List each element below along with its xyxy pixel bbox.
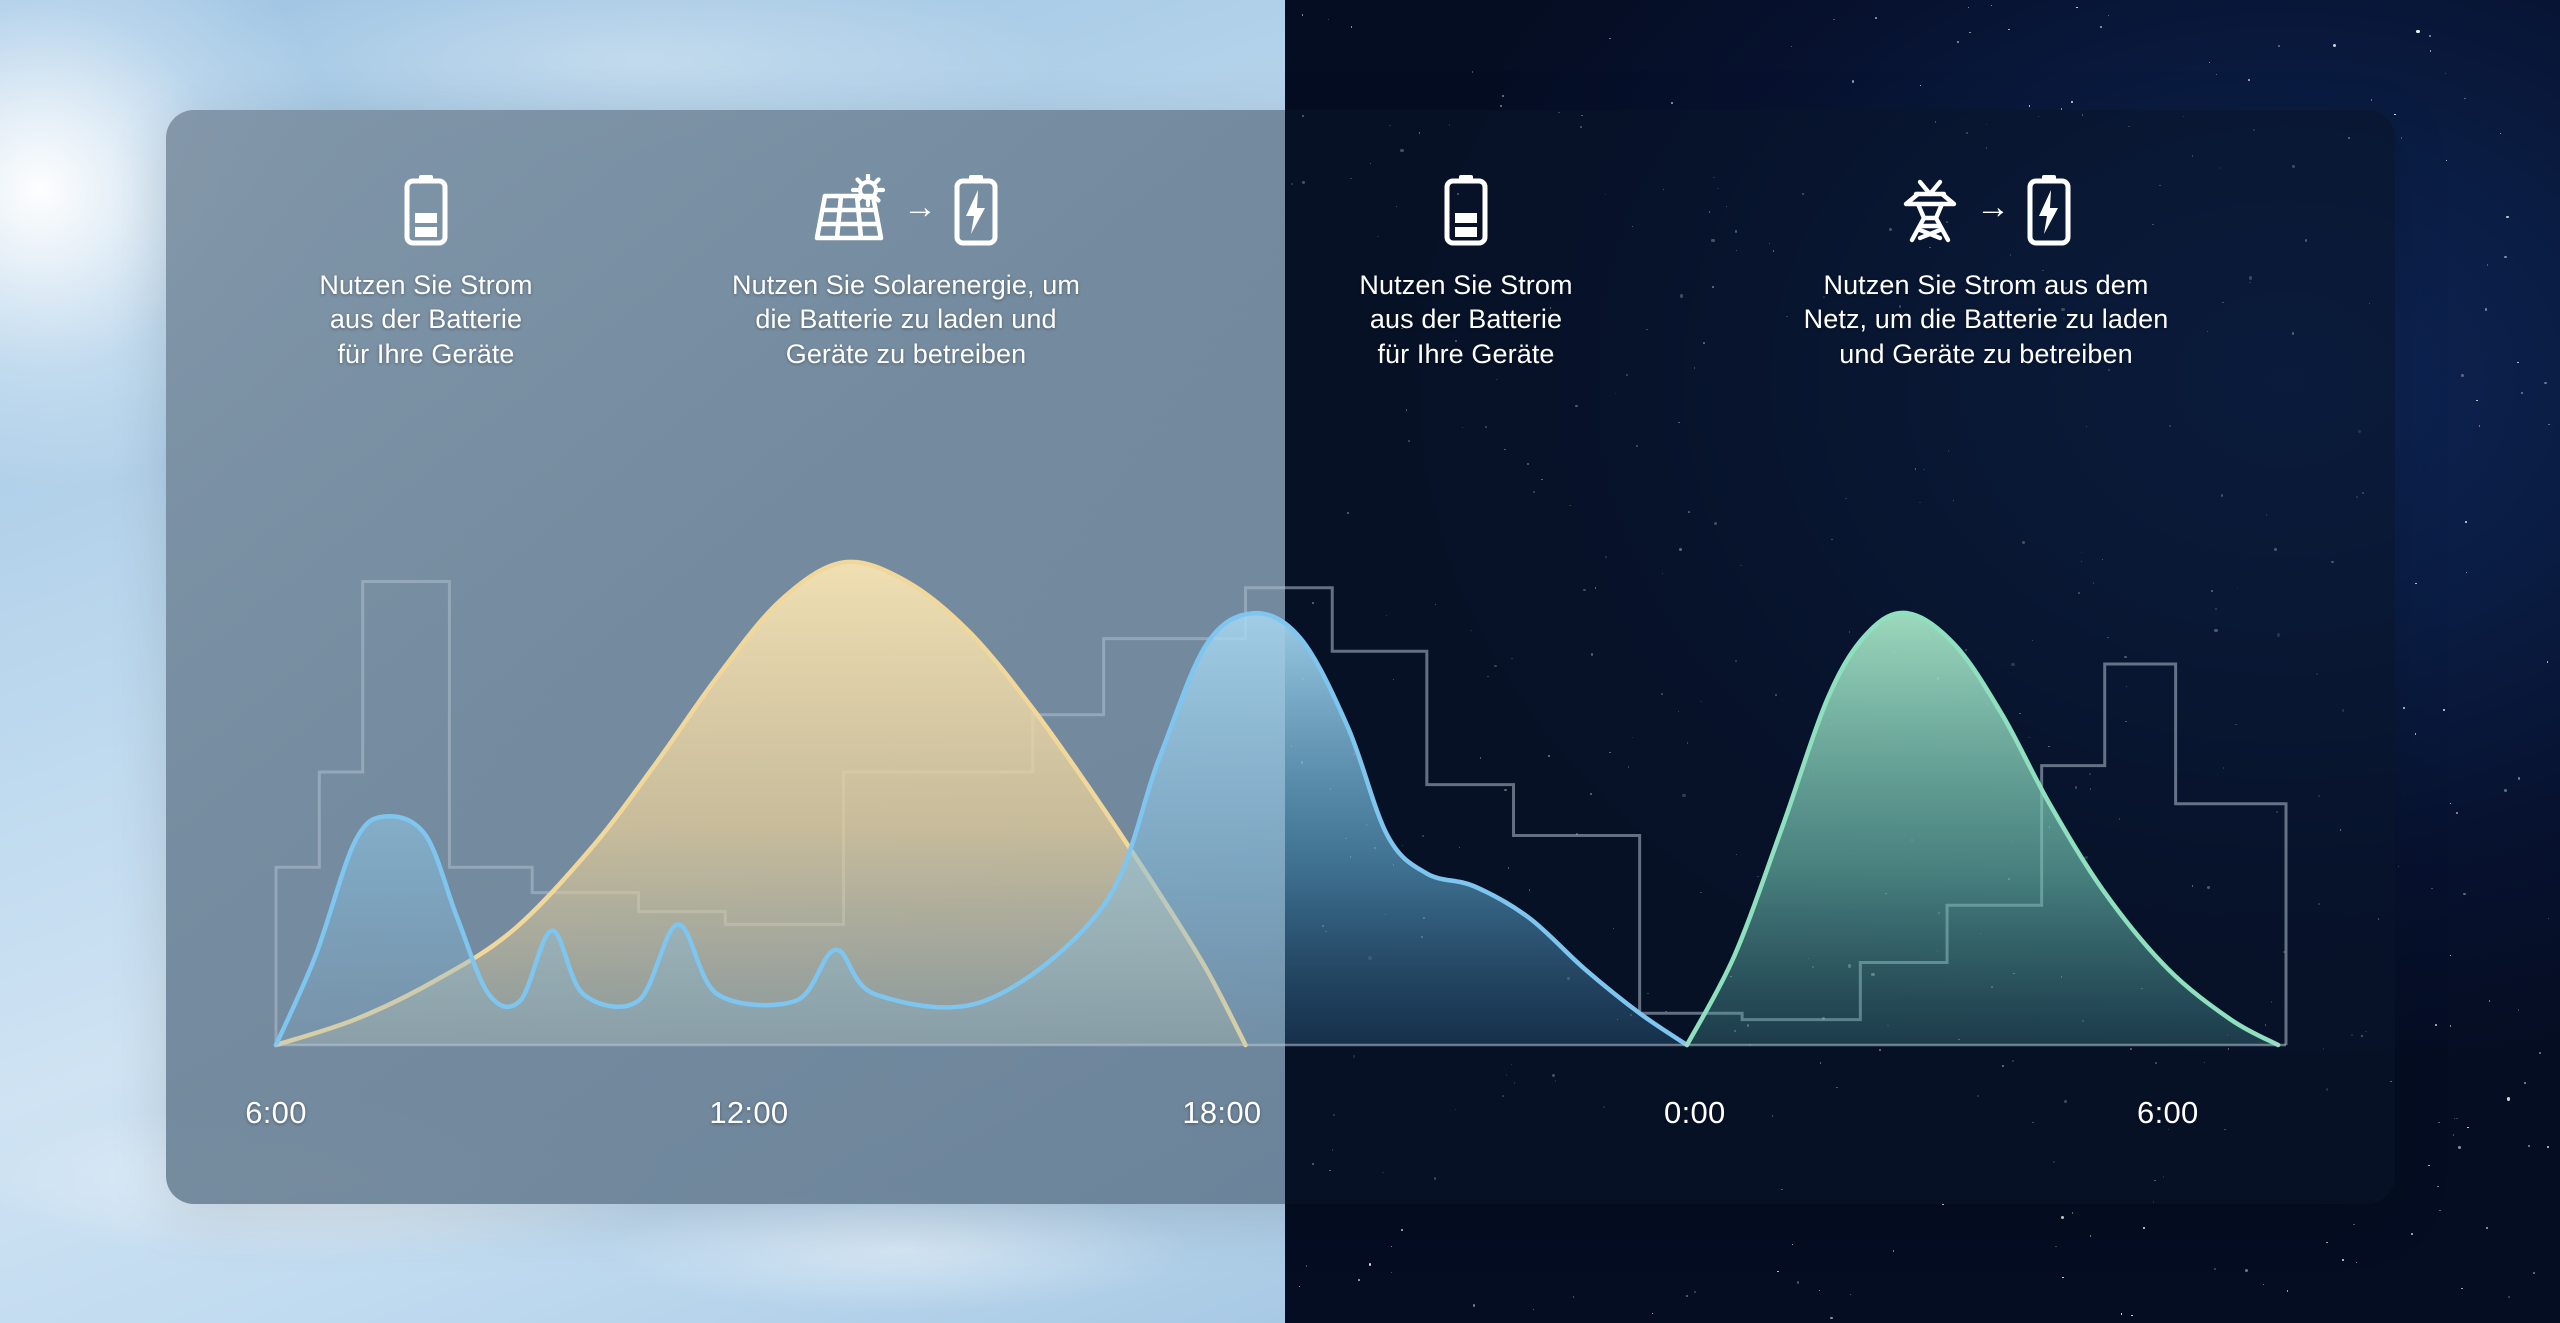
battery-charging-icon <box>2024 172 2074 246</box>
battery-charging-icon <box>951 172 1001 246</box>
x-tick-label: 12:00 <box>709 1095 788 1131</box>
legend-item-day-solar[interactable]: → Nutzen Sie Solarenergie, um die Batter… <box>636 172 1176 371</box>
legend-caption: Nutzen Sie Strom aus dem Netz, um die Ba… <box>1686 268 2286 371</box>
legend-item-day-battery[interactable]: Nutzen Sie Strom aus der Batterie für Ih… <box>206 172 646 371</box>
energy-flow-card: 6:0012:0018:000:006:00 Nutzen Sie Strom … <box>166 110 2395 1204</box>
legend-icons-day-battery <box>206 172 646 246</box>
legend-item-night-grid[interactable]: → Nutzen Sie Strom aus dem Netz, um die … <box>1686 172 2286 371</box>
legend-caption: Nutzen Sie Strom aus der Batterie für Ih… <box>206 268 646 371</box>
battery-half-icon <box>401 172 451 246</box>
battery-half-icon <box>1441 172 1491 246</box>
x-tick-label: 6:00 <box>245 1095 307 1131</box>
legend-icons-day-solar: → <box>636 172 1176 246</box>
series-area <box>1687 613 2278 1045</box>
arrow-right-icon: → <box>903 190 937 224</box>
x-tick-label: 6:00 <box>2137 1095 2199 1131</box>
solar-panel-icon <box>811 174 889 244</box>
x-tick-label: 0:00 <box>1664 1095 1726 1131</box>
legend-row: Nutzen Sie Strom aus der Batterie für Ih… <box>166 110 2395 410</box>
chart-series-layer <box>276 562 2278 1045</box>
infographic-stage: 6:0012:0018:000:006:00 Nutzen Sie Strom … <box>0 0 2560 1323</box>
legend-caption: Nutzen Sie Solarenergie, um die Batterie… <box>636 268 1176 371</box>
arrow-right-icon: → <box>1976 190 2010 224</box>
x-tick-label: 18:00 <box>1182 1095 1261 1131</box>
power-tower-icon <box>1898 174 1962 244</box>
legend-item-night-battery[interactable]: Nutzen Sie Strom aus der Batterie für Ih… <box>1246 172 1686 371</box>
legend-icons-night-grid: → <box>1686 172 2286 246</box>
legend-caption: Nutzen Sie Strom aus der Batterie für Ih… <box>1246 268 1686 371</box>
legend-icons-night-battery <box>1246 172 1686 246</box>
